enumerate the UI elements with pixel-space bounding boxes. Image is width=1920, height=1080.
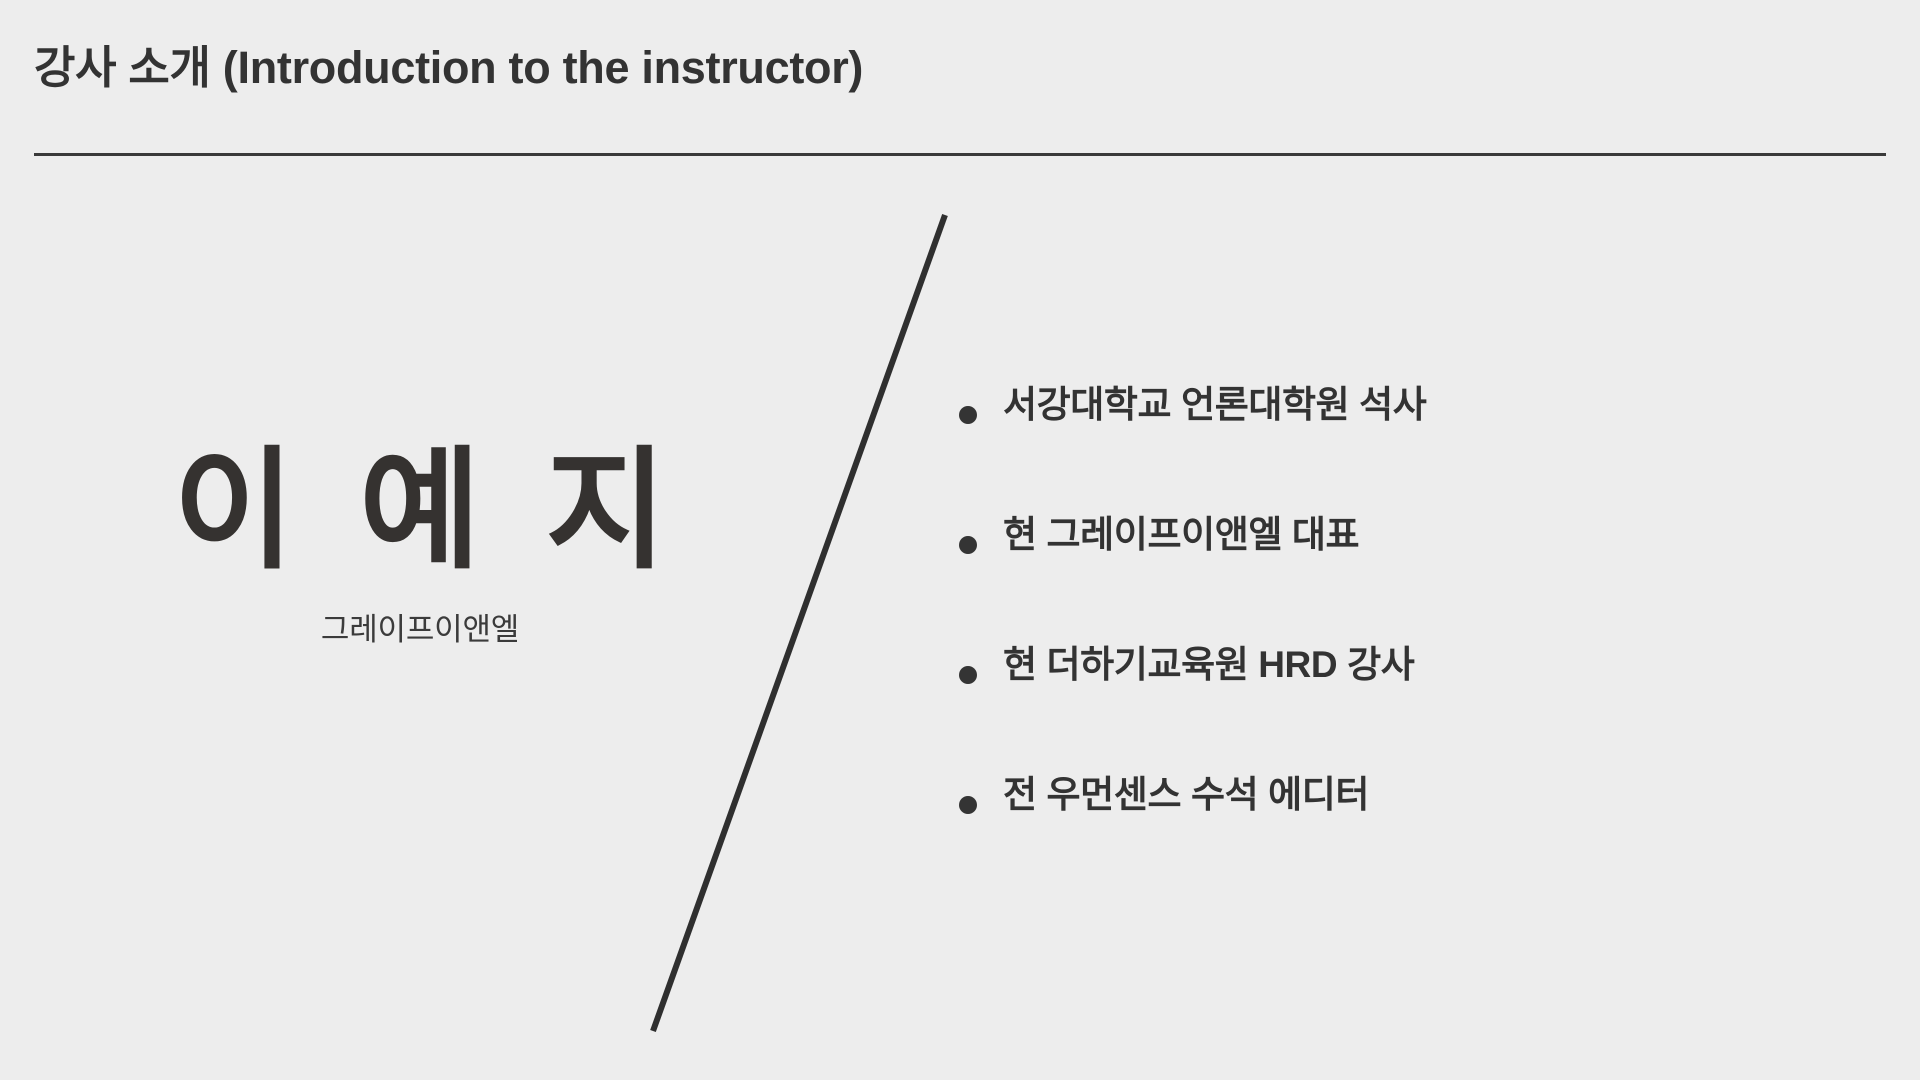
credential-text: 서강대학교 언론대학원 석사: [1003, 382, 1426, 428]
slide-canvas: 강사 소개 (Introduction to the instructor) 이…: [0, 0, 1920, 1080]
credential-text: 현 그레이프이앤엘 대표: [1003, 512, 1359, 558]
instructor-identity-block: 이 예 지 그레이프이앤엘: [60, 440, 780, 648]
bullet-dot-icon: [959, 406, 977, 424]
list-item: 현 그레이프이앤엘 대표: [950, 512, 1850, 642]
list-item: 현 더하기교육원 HRD 강사: [950, 642, 1850, 772]
instructor-organization: 그레이프이앤엘: [60, 611, 780, 648]
page-title: 강사 소개 (Introduction to the instructor): [34, 43, 863, 93]
bullet-dot-icon: [959, 796, 977, 814]
credential-text: 현 더하기교육원 HRD 강사: [1003, 642, 1414, 688]
list-item: 전 우먼센스 수석 에디터: [950, 772, 1850, 902]
instructor-name: 이 예 지: [60, 440, 780, 583]
credentials-list: 서강대학교 언론대학원 석사 현 그레이프이앤엘 대표 현 더하기교육원 HRD…: [950, 382, 1850, 902]
list-item: 서강대학교 언론대학원 석사: [950, 382, 1850, 512]
bullet-dot-icon: [959, 666, 977, 684]
title-divider-rule: [34, 153, 1886, 156]
credential-text: 전 우먼센스 수석 에디터: [1003, 772, 1369, 818]
bullet-dot-icon: [959, 536, 977, 554]
